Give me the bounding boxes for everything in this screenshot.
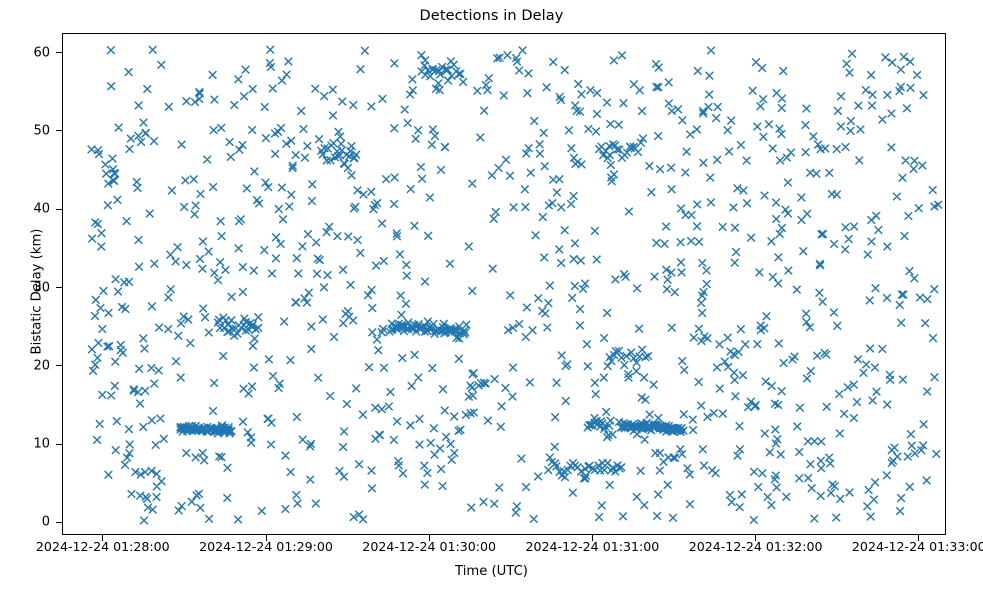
y-tick-mark: [56, 287, 62, 288]
y-tick-label: 60: [33, 46, 50, 59]
x-axis-label: Time (UTC): [0, 564, 983, 579]
y-tick-label: 10: [33, 438, 50, 451]
plot-area: [62, 33, 946, 535]
x-tick-mark: [266, 535, 267, 541]
x-tick-label: 2024-12-24 01:31:00: [526, 540, 660, 554]
y-tick-mark: [56, 522, 62, 523]
chart-title: Detections in Delay: [0, 8, 983, 24]
x-tick-mark: [755, 535, 756, 541]
y-tick-label: 0: [42, 516, 50, 529]
y-axis-tick-labels: 0102030405060: [0, 0, 50, 590]
x-tick-mark: [102, 535, 103, 541]
x-tick-label: 2024-12-24 01:33:00: [852, 540, 983, 554]
x-tick-label: 2024-12-24 01:32:00: [689, 540, 823, 554]
y-tick-label: 50: [33, 124, 50, 137]
x-tick-mark: [429, 535, 430, 541]
y-tick-mark: [56, 52, 62, 53]
y-tick-label: 20: [33, 359, 50, 372]
y-tick-mark: [56, 444, 62, 445]
x-tick-label: 2024-12-24 01:29:00: [199, 540, 333, 554]
y-tick-label: 30: [33, 281, 50, 294]
x-tick-mark: [592, 535, 593, 541]
y-tick-mark: [56, 130, 62, 131]
matplotlib-figure: Detections in Delay Bistatic Delay (km) …: [0, 0, 983, 590]
y-tick-label: 40: [33, 203, 50, 216]
scatter-series: [63, 34, 946, 535]
x-tick-label: 2024-12-24 01:28:00: [36, 540, 170, 554]
y-tick-mark: [56, 365, 62, 366]
x-tick-mark: [918, 535, 919, 541]
y-tick-mark: [56, 209, 62, 210]
x-tick-label: 2024-12-24 01:30:00: [362, 540, 496, 554]
